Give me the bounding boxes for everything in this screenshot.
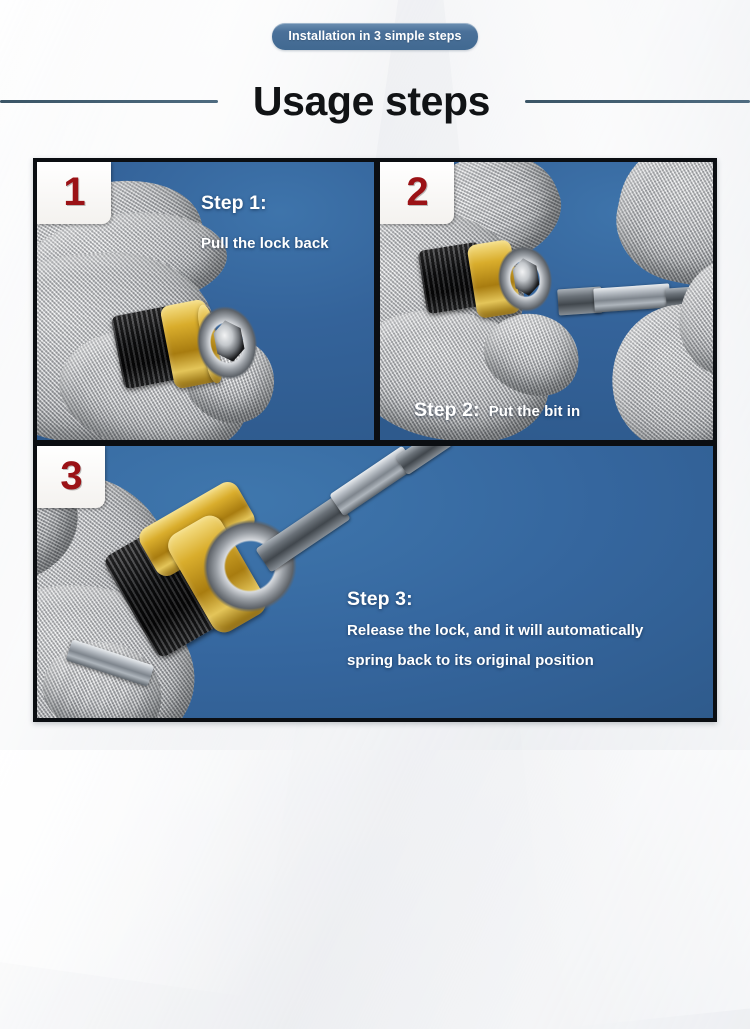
step-3-number-badge: 3	[37, 446, 105, 508]
step-1-heading: Step 1:	[201, 192, 374, 215]
step-3-number: 3	[60, 456, 81, 496]
step-2-number: 2	[406, 172, 427, 212]
step-3-panel: 3 Step 3: Release the lock, and it will …	[37, 446, 717, 722]
installation-badge: Installation in 3 simple steps	[272, 23, 477, 50]
step-2-heading: Step 2:	[414, 399, 480, 422]
step-2-panel: 2 Step 2: Put the bit in	[380, 162, 717, 440]
title-row: Usage steps	[0, 70, 750, 132]
step-3-body-line-2: spring back to its original position	[347, 650, 717, 671]
step-1-body: Pull the lock back	[201, 233, 374, 254]
step-1-number: 1	[63, 172, 84, 212]
title-rule-right	[525, 100, 750, 103]
step-3-heading: Step 3:	[347, 588, 717, 611]
step-3-caption: Step 3: Release the lock, and it will au…	[347, 588, 717, 672]
step-2-caption: Step 2: Put the bit in	[414, 399, 704, 422]
step-2-number-badge: 2	[380, 162, 454, 224]
badge-container: Installation in 3 simple steps	[0, 0, 750, 62]
step-3-body-line-1: Release the lock, and it will automatica…	[347, 620, 717, 641]
step-2-body: Put the bit in	[489, 401, 581, 422]
step-1-panel: 1 Step 1: Pull the lock back	[37, 162, 374, 440]
step-1-caption: Step 1: Pull the lock back	[201, 192, 374, 254]
title-rule-left	[0, 100, 218, 103]
step-1-number-badge: 1	[37, 162, 111, 224]
steps-photo-grid: 1 Step 1: Pull the lock back	[33, 158, 717, 722]
page-title: Usage steps	[237, 81, 506, 122]
